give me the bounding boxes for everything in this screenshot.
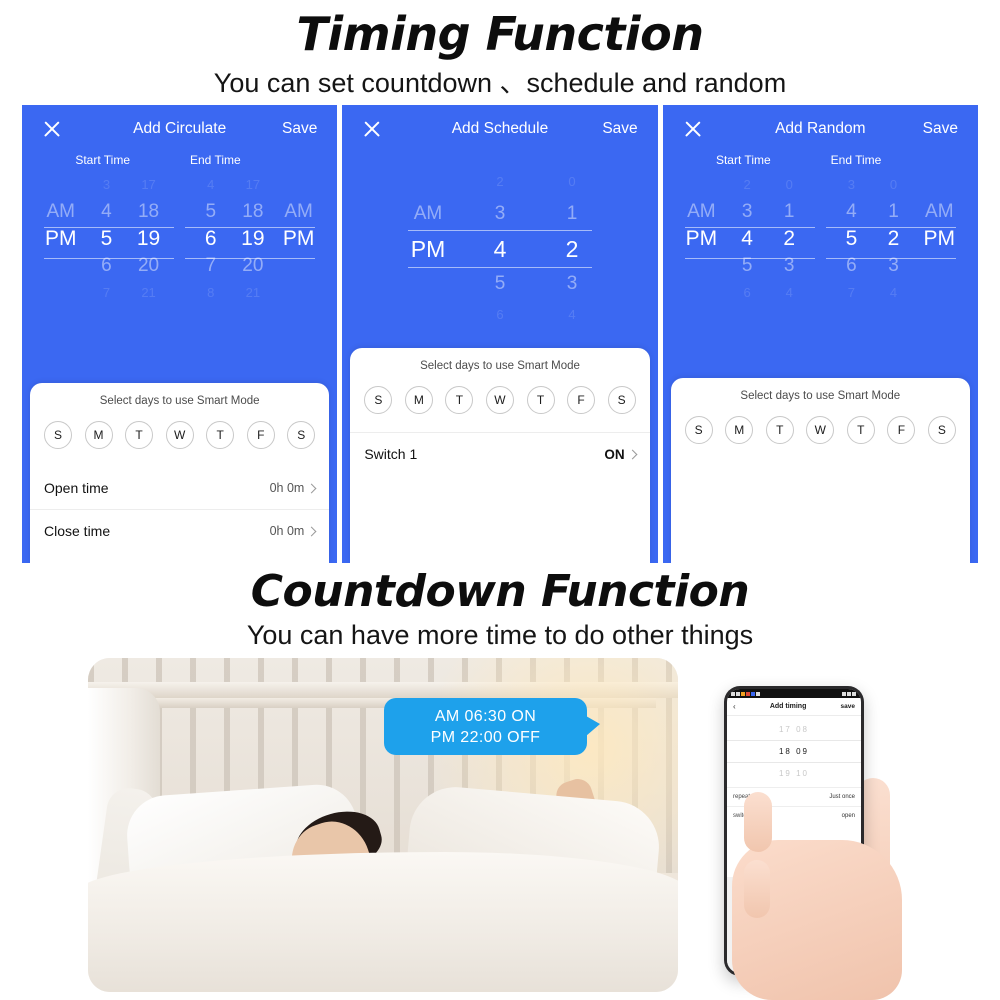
duvet [88,852,678,992]
panel1-topbar: Add Circulate Save [22,105,337,153]
close-icon[interactable] [362,119,382,139]
phone-title: Add timing [770,703,807,710]
cell[interactable]: 20 [128,252,170,279]
cell[interactable] [392,300,464,330]
hour-column[interactable]: 2 3 4 5 6 [464,165,536,330]
schedule-callout-bubble: AM 06:30 ON PM 22:00 OFF [384,698,587,755]
cell[interactable]: 3 [830,171,872,198]
back-icon[interactable]: ‹ [733,702,736,711]
cell[interactable] [677,279,726,306]
cell[interactable]: 8 [190,279,232,306]
end-minute-column[interactable]: 0 1 2 3 4 [872,171,914,306]
bubble-line-off: PM 22:00 OFF [384,727,587,748]
cell[interactable]: 18 [128,198,170,225]
day-chip-fr[interactable]: F [247,421,275,449]
phone-row-value: Just once [829,794,855,800]
cell[interactable]: 4 [190,171,232,198]
cell-selected[interactable]: PM [36,225,85,252]
panel2-day-selector[interactable]: S M T W T F S [350,372,649,414]
day-chip-mo[interactable]: M [405,386,433,414]
phone-navbar: ‹ Add timing save [727,698,861,716]
row-value-wrap[interactable]: 0h 0m [270,481,316,495]
phone-time-picker[interactable]: 17 08 18 09 19 10 [727,716,861,787]
panel-add-schedule: Add Schedule Save AM PM 2 3 4 5 6 [342,105,657,563]
sheet-title: Select days to use Smart Mode [30,383,329,407]
cell[interactable]: 3 [768,252,810,279]
cell[interactable] [36,171,85,198]
start-hour-column[interactable]: 3 4 5 6 7 [85,171,127,306]
day-chip-we[interactable]: W [166,421,194,449]
bubble-line-on: AM 06:30 ON [384,706,587,727]
row-label: Switch 1 [364,446,417,462]
row-value-wrap[interactable]: 0h 0m [270,524,316,538]
cell[interactable]: 3 [872,252,914,279]
cell[interactable]: 7 [830,279,872,306]
cell[interactable]: 3 [85,171,127,198]
day-chip-sa[interactable]: S [287,421,315,449]
day-chip-su[interactable]: S [364,386,392,414]
day-chip-mo[interactable]: M [725,416,753,444]
cell-selected[interactable]: PM [915,225,964,252]
page-subtitle-countdown: You can have more time to do other thing… [0,618,1000,652]
save-button[interactable]: Save [282,120,317,138]
panel-add-random: Add Random Save Start Time End Time AM P… [663,105,978,563]
chevron-right-icon [307,526,317,536]
day-chip-fr[interactable]: F [887,416,915,444]
day-chip-mo[interactable]: M [85,421,113,449]
finger-index [744,792,772,852]
minute-column[interactable]: 0 1 2 3 4 [536,165,608,330]
cell[interactable]: 1 [872,198,914,225]
statusbar-right-icons [842,692,857,696]
cell[interactable]: 6 [830,252,872,279]
row-open-time[interactable]: Open time 0h 0m [30,467,329,509]
cell[interactable]: 4 [830,198,872,225]
sheet-title: Select days to use Smart Mode [350,348,649,372]
end-time-label: End Time [831,153,964,167]
app-screens-row: Add Circulate Save Start Time End Time A… [22,105,978,563]
row-value: 0h 0m [270,524,305,538]
panel3-time-picker[interactable]: Start Time End Time AM PM 2 3 4 [663,153,978,306]
cell[interactable]: 21 [232,279,274,306]
cell[interactable] [915,279,964,306]
day-chip-su[interactable]: S [44,421,72,449]
day-chip-th[interactable]: T [847,416,875,444]
phone-time-row[interactable]: 19 10 [727,763,861,784]
day-chip-we[interactable]: W [806,416,834,444]
panel1-time-picker[interactable]: Start Time End Time AM PM 3 4 5 [22,153,337,306]
cell-selected[interactable]: 4 [726,225,768,252]
cell[interactable]: 0 [536,165,608,198]
cell[interactable]: 7 [85,279,127,306]
day-chip-tu[interactable]: T [445,386,473,414]
panel1-bottom-sheet: Select days to use Smart Mode S M T W T … [30,383,329,563]
end-time-label: End Time [190,153,323,167]
panel-add-circulate: Add Circulate Save Start Time End Time A… [22,105,337,563]
cell[interactable]: 6 [726,279,768,306]
phone-time-row-selected[interactable]: 18 09 [727,740,861,763]
cell[interactable]: AM [677,198,726,225]
cell-selected[interactable]: 19 [232,225,274,252]
phone-row-value: open [842,813,855,819]
cell[interactable]: 3 [726,198,768,225]
cell[interactable]: 18 [232,198,274,225]
cell[interactable]: 3 [464,198,536,230]
day-chip-tu[interactable]: T [766,416,794,444]
day-chip-su[interactable]: S [685,416,713,444]
phone-save-button[interactable]: save [841,703,855,710]
cell-selected[interactable]: PM [392,230,464,268]
cell[interactable]: 1 [768,198,810,225]
day-chip-sa[interactable]: S [928,416,956,444]
cell[interactable] [392,268,464,300]
start-hour-column[interactable]: 2 3 4 5 6 [726,171,768,306]
cell[interactable]: 0 [768,171,810,198]
panel2-picker-grid[interactable]: AM PM 2 3 4 5 6 0 1 2 3 4 [356,165,643,330]
panel3-picker-labels: Start Time End Time [677,153,964,167]
sheet-title: Select days to use Smart Mode [671,378,970,402]
close-icon[interactable] [42,119,62,139]
cell[interactable]: 7 [190,252,232,279]
phone-statusbar [727,689,861,698]
cell[interactable] [915,252,964,279]
cell-selected[interactable]: 2 [872,225,914,252]
row-switch-1[interactable]: Switch 1 ON [350,432,649,475]
cell[interactable]: 4 [536,300,608,330]
cell[interactable]: 5 [726,252,768,279]
cell[interactable]: AM [36,198,85,225]
panel2-settings-rows: Switch 1 ON [350,432,649,475]
hand-holding-phone: ‹ Add timing save 17 08 18 09 19 10 repe… [660,660,1000,1000]
cell-selected[interactable]: PM [274,225,323,252]
start-time-label: Start Time [36,153,169,167]
panel2-bottom-sheet: Select days to use Smart Mode S M T W T … [350,348,649,563]
cell[interactable] [274,252,323,279]
cell[interactable]: 5 [190,198,232,225]
start-meridiem-column[interactable]: AM PM [36,171,85,306]
finger-middle [744,860,770,918]
cell[interactable] [392,165,464,198]
save-button[interactable]: Save [602,120,637,138]
cell[interactable]: 4 [872,279,914,306]
page-title-timing: Timing Function [0,0,1000,60]
cell-selected[interactable]: 5 [85,225,127,252]
panel1-picker-labels: Start Time End Time [36,153,323,167]
end-meridiem-column[interactable]: AM PM [915,171,964,306]
day-chip-we[interactable]: W [486,386,514,414]
panel1-picker-grid[interactable]: AM PM 3 4 5 6 7 17 18 19 20 21 [36,169,323,306]
cell[interactable]: 3 [536,268,608,300]
page-title-countdown: Countdown Function [0,566,1000,618]
cell[interactable]: 4 [85,198,127,225]
cell-selected[interactable]: 5 [830,225,872,252]
cell-selected[interactable]: 2 [536,230,608,268]
meridiem-column[interactable]: AM PM [392,165,464,330]
cell[interactable]: 6 [85,252,127,279]
cell-selected[interactable]: 4 [464,230,536,268]
cell-selected[interactable]: PM [677,225,726,252]
cell[interactable] [36,252,85,279]
start-minute-column[interactable]: 0 1 2 3 4 [768,171,810,306]
statusbar-left-icons [731,692,761,696]
cell[interactable] [677,171,726,198]
day-chip-th[interactable]: T [527,386,555,414]
cell[interactable] [274,279,323,306]
cell[interactable]: 6 [464,300,536,330]
end-minute-column[interactable]: 17 18 19 20 21 [232,171,274,306]
cell[interactable] [677,252,726,279]
cell-selected[interactable]: 2 [768,225,810,252]
cell[interactable] [274,171,323,198]
cell[interactable]: 0 [872,171,914,198]
cell[interactable]: AM [915,198,964,225]
cell-selected[interactable]: 19 [128,225,170,252]
panel1-day-selector[interactable]: S M T W T F S [30,407,329,449]
save-button[interactable]: Save [923,120,958,138]
day-chip-fr[interactable]: F [567,386,595,414]
row-value: 0h 0m [270,481,305,495]
cell[interactable]: 5 [464,268,536,300]
cell[interactable]: 2 [464,165,536,198]
panel3-topbar: Add Random Save [663,105,978,153]
phone-time-row[interactable]: 17 08 [727,719,861,740]
end-hour-column[interactable]: 4 5 6 7 8 [190,171,232,306]
end-hour-column[interactable]: 3 4 5 6 7 [830,171,872,306]
cell[interactable] [36,279,85,306]
cell[interactable]: 1 [536,198,608,230]
status-badge: ON [604,447,624,462]
cell[interactable]: 21 [128,279,170,306]
panel1-settings-rows: Open time 0h 0m Close time 0h 0m [30,467,329,552]
cell[interactable]: AM [274,198,323,225]
day-chip-sa[interactable]: S [608,386,636,414]
panel3-bottom-sheet: Select days to use Smart Mode S M T W T … [671,378,970,563]
cell[interactable]: 4 [768,279,810,306]
row-label: Close time [44,523,110,539]
day-chip-th[interactable]: T [206,421,234,449]
start-minute-column[interactable]: 17 18 19 20 21 [128,171,170,306]
chevron-right-icon [307,483,317,493]
cell-selected[interactable]: 6 [190,225,232,252]
panel3-day-selector[interactable]: S M T W T F S [671,402,970,444]
day-chip-tu[interactable]: T [125,421,153,449]
panel2-topbar: Add Schedule Save [342,105,657,153]
cell[interactable]: 2 [726,171,768,198]
start-meridiem-column[interactable]: AM PM [677,171,726,306]
chevron-right-icon [627,449,637,459]
close-icon[interactable] [683,119,703,139]
start-time-label: Start Time [677,153,810,167]
cell[interactable] [915,171,964,198]
row-close-time[interactable]: Close time 0h 0m [30,509,329,552]
row-value-wrap[interactable]: ON [604,447,635,462]
page-subtitle-timing: You can set countdown 、schedule and rand… [0,66,1000,100]
cell[interactable]: 17 [128,171,170,198]
panel2-time-picker[interactable]: AM PM 2 3 4 5 6 0 1 2 3 4 [342,153,657,330]
panel3-picker-grid[interactable]: AM PM 2 3 4 5 6 0 1 2 3 4 [677,169,964,306]
row-label: Open time [44,480,109,496]
cell[interactable]: 20 [232,252,274,279]
end-meridiem-column[interactable]: AM PM [274,171,323,306]
lifestyle-photo-bedroom [88,658,678,992]
cell[interactable]: 17 [232,171,274,198]
cell[interactable]: AM [392,198,464,230]
